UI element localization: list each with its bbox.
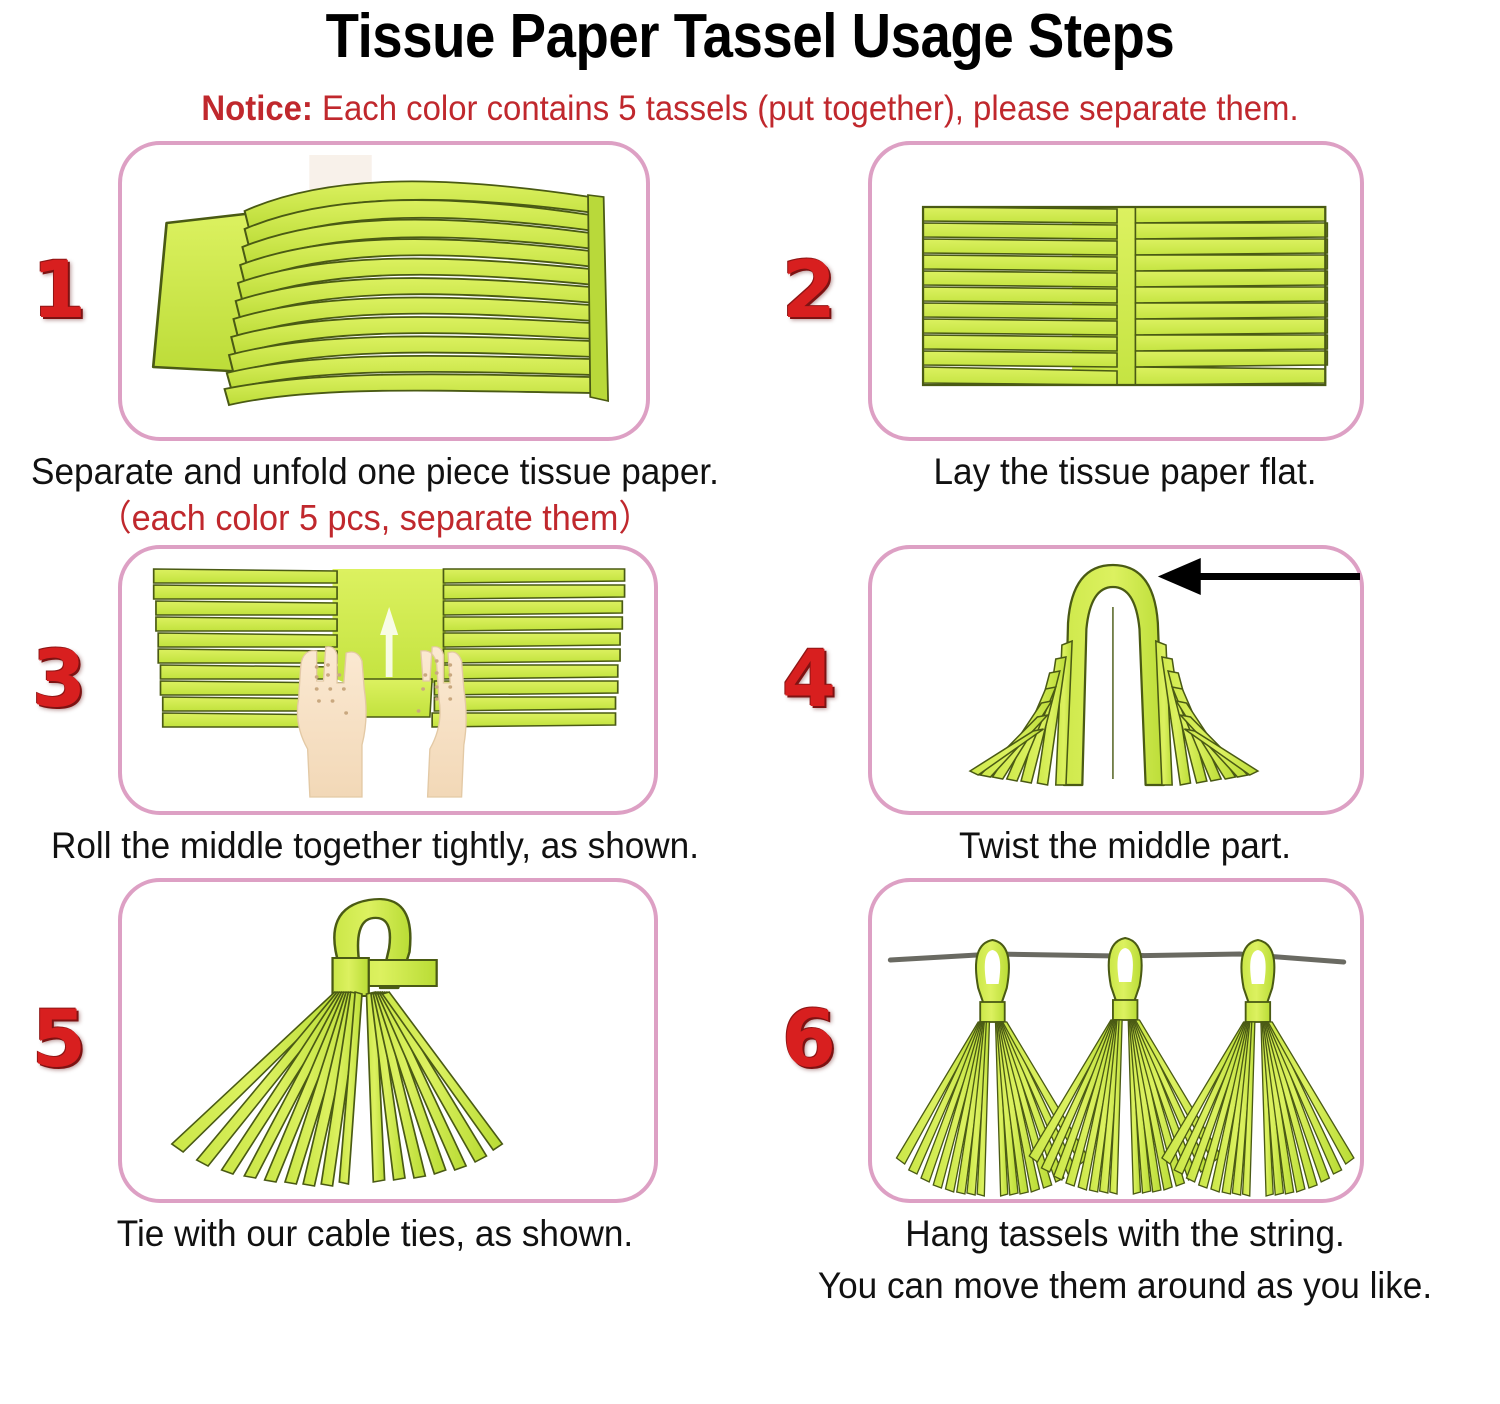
step-4-caption-block: Twist the middle part.	[750, 815, 1500, 868]
step-5-caption: Tie with our cable ties, as shown.	[19, 1203, 732, 1256]
step-number-3: 3	[0, 641, 118, 719]
step-2-body: 2	[750, 141, 1500, 441]
step-row-2: 3	[0, 545, 1500, 868]
tassel-tied-with-cable-tie-icon	[122, 882, 654, 1199]
step-cell-5: 5	[0, 878, 750, 1308]
step-cell-1: 1	[0, 141, 750, 539]
step-cell-6: 6	[750, 878, 1500, 1308]
right-hand	[417, 647, 466, 797]
step-number-6: 6	[750, 1001, 868, 1079]
step-6-caption-block: Hang tassels with the string. You can mo…	[750, 1203, 1500, 1308]
step-2-caption-block: Lay the tissue paper flat.	[750, 441, 1500, 494]
step-6-body: 6	[750, 878, 1500, 1203]
step-4-illustration-panel	[868, 545, 1364, 815]
step-5-illustration-panel	[118, 878, 658, 1203]
three-tassels-hanging-on-string-icon	[872, 882, 1360, 1199]
notice-text: Each color contains 5 tassels (put toget…	[313, 89, 1299, 128]
step-number-5: 5	[0, 1001, 118, 1079]
step-4-caption: Twist the middle part.	[769, 815, 1482, 868]
step-1-caption-sub: （each color 5 pcs, separate them）	[19, 494, 732, 539]
step-3-body: 3	[0, 545, 750, 815]
step-cell-3: 3	[0, 545, 750, 868]
step-3-caption: Roll the middle together tightly, as sho…	[19, 815, 732, 868]
step-6-caption-sub: You can move them around as you like.	[769, 1255, 1482, 1308]
fringed-tissue-held-in-hand-icon	[122, 145, 646, 437]
step-cell-4: 4	[750, 545, 1500, 868]
step-row-3: 5	[0, 878, 1500, 1308]
step-6-illustration-panel	[868, 878, 1364, 1203]
step-3-illustration-panel	[118, 545, 658, 815]
step-cell-2: 2	[750, 141, 1500, 539]
step-1-caption: Separate and unfold one piece tissue pap…	[19, 441, 732, 494]
notice-banner: Notice: Each color contains 5 tassels (p…	[45, 69, 1455, 129]
step-5-body: 5	[0, 878, 750, 1203]
step-2-illustration-panel	[868, 141, 1364, 441]
step-2-caption: Lay the tissue paper flat.	[769, 441, 1482, 494]
step-1-illustration-panel	[118, 141, 650, 441]
two-hands-rolling-middle-icon	[122, 549, 654, 811]
step-5-caption-block: Tie with our cable ties, as shown.	[0, 1203, 750, 1256]
page-title: Tissue Paper Tassel Usage Steps	[90, 0, 1410, 69]
steps-grid: 1	[0, 141, 1500, 1308]
step-3-caption-block: Roll the middle together tightly, as sho…	[0, 815, 750, 868]
step-1-body: 1	[0, 141, 750, 441]
left-hand	[297, 647, 366, 797]
step-number-1: 1	[0, 252, 118, 330]
tissue-paper-laid-flat-fringed-icon	[872, 145, 1360, 437]
pointer-arrow-icon	[1158, 558, 1360, 595]
step-4-body: 4	[750, 545, 1500, 815]
step-6-caption: Hang tassels with the string.	[769, 1203, 1482, 1256]
step-row-1: 1	[0, 141, 1500, 539]
folded-tassel-with-arrow-icon	[872, 549, 1360, 811]
step-number-4: 4	[750, 641, 868, 719]
notice-label: Notice:	[201, 89, 313, 128]
step-number-2: 2	[750, 252, 868, 330]
step-1-caption-block: Separate and unfold one piece tissue pap…	[0, 441, 750, 539]
